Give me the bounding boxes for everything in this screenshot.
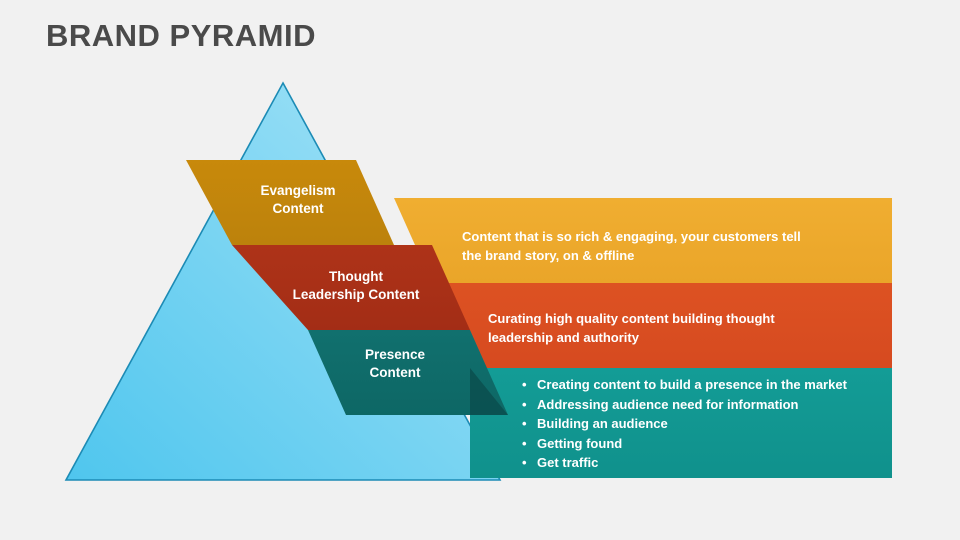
evangelism-panel-text: Content that is so rich & engaging, your… [462,227,812,265]
list-item: Getting found [522,434,892,454]
thought-leadership-band-label: Thought Leadership Content [271,268,441,304]
list-item: Creating content to build a presence in … [522,375,892,395]
list-item: Addressing audience need for information [522,395,892,415]
thought-leadership-panel-text: Curating high quality content building t… [488,309,838,347]
presence-panel-bullets: Creating content to build a presence in … [522,375,892,473]
list-item: Building an audience [522,414,892,434]
slide-canvas: BRAND PYRAMID [0,0,960,540]
evangelism-band-label: Evangelism Content [228,182,368,218]
presence-band-label: Presence Content [325,346,465,382]
list-item: Get traffic [522,453,892,473]
